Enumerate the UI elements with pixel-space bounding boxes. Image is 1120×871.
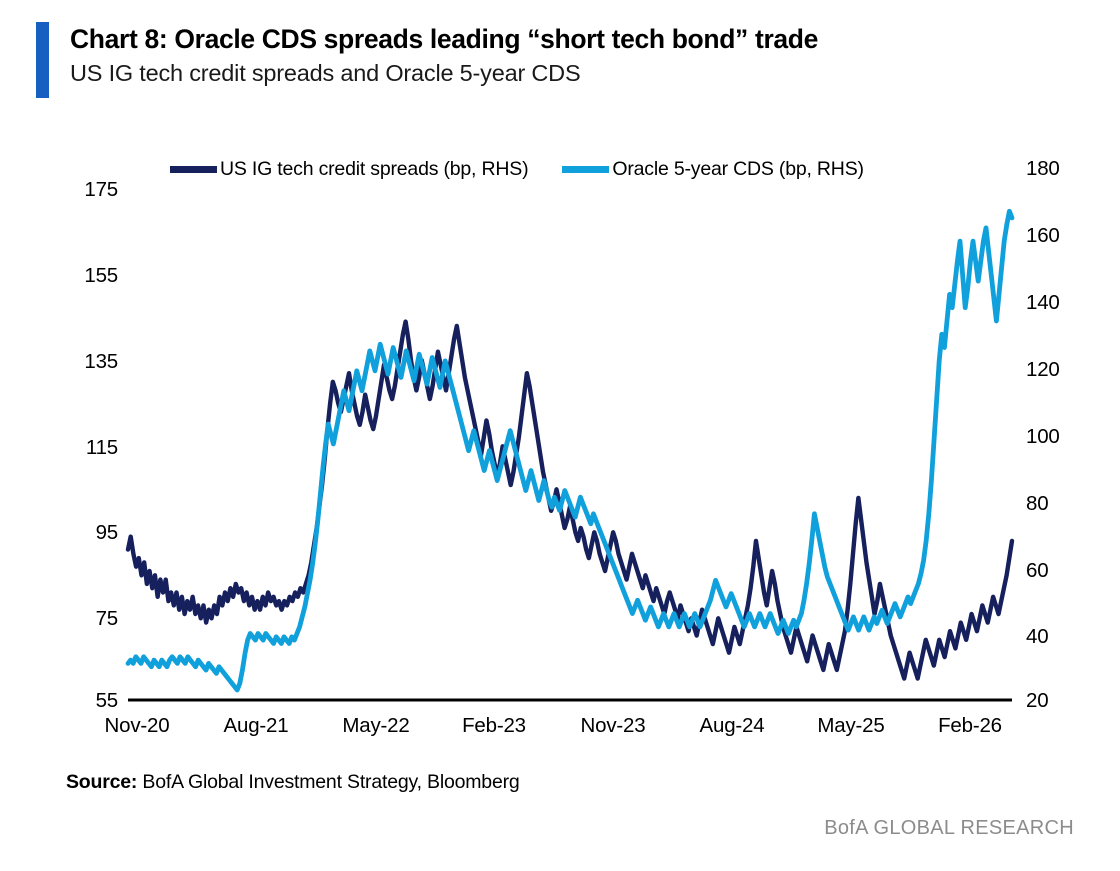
x-tick-may-25: May-25 xyxy=(791,714,911,738)
chart-svg xyxy=(0,0,1120,871)
chart-legend: US IG tech credit spreads (bp, RHS) Orac… xyxy=(170,158,864,181)
chart-page: Chart 8: Oracle CDS spreads leading “sho… xyxy=(0,0,1120,871)
y-right-tick-60: 60 xyxy=(1026,559,1106,583)
series-group xyxy=(128,211,1012,690)
legend-label-oracle-cds: Oracle 5-year CDS (bp, RHS) xyxy=(612,158,863,181)
x-tick-nov-23: Nov-23 xyxy=(553,714,673,738)
title-text-group: Chart 8: Oracle CDS spreads leading “sho… xyxy=(70,22,818,98)
page-subtitle: US IG tech credit spreads and Oracle 5-y… xyxy=(70,59,818,88)
x-tick-may-22: May-22 xyxy=(316,714,436,738)
y-right-tick-140: 140 xyxy=(1026,291,1106,315)
x-tick-nov-20: Nov-20 xyxy=(77,714,197,738)
legend-swatch-navy-icon xyxy=(170,166,217,173)
legend-item-us-ig-tech: US IG tech credit spreads (bp, RHS) xyxy=(170,158,528,181)
y-left-tick-55: 55 xyxy=(48,689,118,713)
series-line-oracle-cds xyxy=(128,211,1012,690)
y-left-tick-155: 155 xyxy=(48,264,118,288)
x-tick-aug-24: Aug-24 xyxy=(672,714,792,738)
y-right-tick-180: 180 xyxy=(1026,157,1106,181)
accent-bar xyxy=(36,22,49,98)
y-left-tick-115: 115 xyxy=(48,436,118,460)
source-value: BofA Global Investment Strategy, Bloombe… xyxy=(137,771,519,793)
title-block: Chart 8: Oracle CDS spreads leading “sho… xyxy=(36,22,1086,98)
y-right-tick-80: 80 xyxy=(1026,492,1106,516)
plot-area xyxy=(0,0,1120,871)
y-left-tick-75: 75 xyxy=(48,607,118,631)
x-tick-feb-23: Feb-23 xyxy=(434,714,554,738)
x-tick-feb-26: Feb-26 xyxy=(910,714,1030,738)
y-left-tick-135: 135 xyxy=(48,350,118,374)
page-title: Chart 8: Oracle CDS spreads leading “sho… xyxy=(70,24,818,55)
y-right-tick-100: 100 xyxy=(1026,425,1106,449)
y-left-tick-175: 175 xyxy=(48,178,118,202)
source-note: Source: BofA Global Investment Strategy,… xyxy=(66,771,520,794)
legend-label-us-ig-tech: US IG tech credit spreads (bp, RHS) xyxy=(220,158,528,181)
series-line-us-ig-tech xyxy=(128,322,1012,679)
footer-brand: BofA GLOBAL RESEARCH xyxy=(824,817,1074,840)
y-right-tick-40: 40 xyxy=(1026,625,1106,649)
y-left-tick-95: 95 xyxy=(48,521,118,545)
y-right-tick-20: 20 xyxy=(1026,689,1106,713)
y-right-tick-160: 160 xyxy=(1026,224,1106,248)
legend-item-oracle-cds: Oracle 5-year CDS (bp, RHS) xyxy=(562,158,863,181)
legend-swatch-cyan-icon xyxy=(562,166,609,173)
source-label: Source: xyxy=(66,771,137,793)
x-tick-aug-21: Aug-21 xyxy=(196,714,316,738)
y-right-tick-120: 120 xyxy=(1026,358,1106,382)
